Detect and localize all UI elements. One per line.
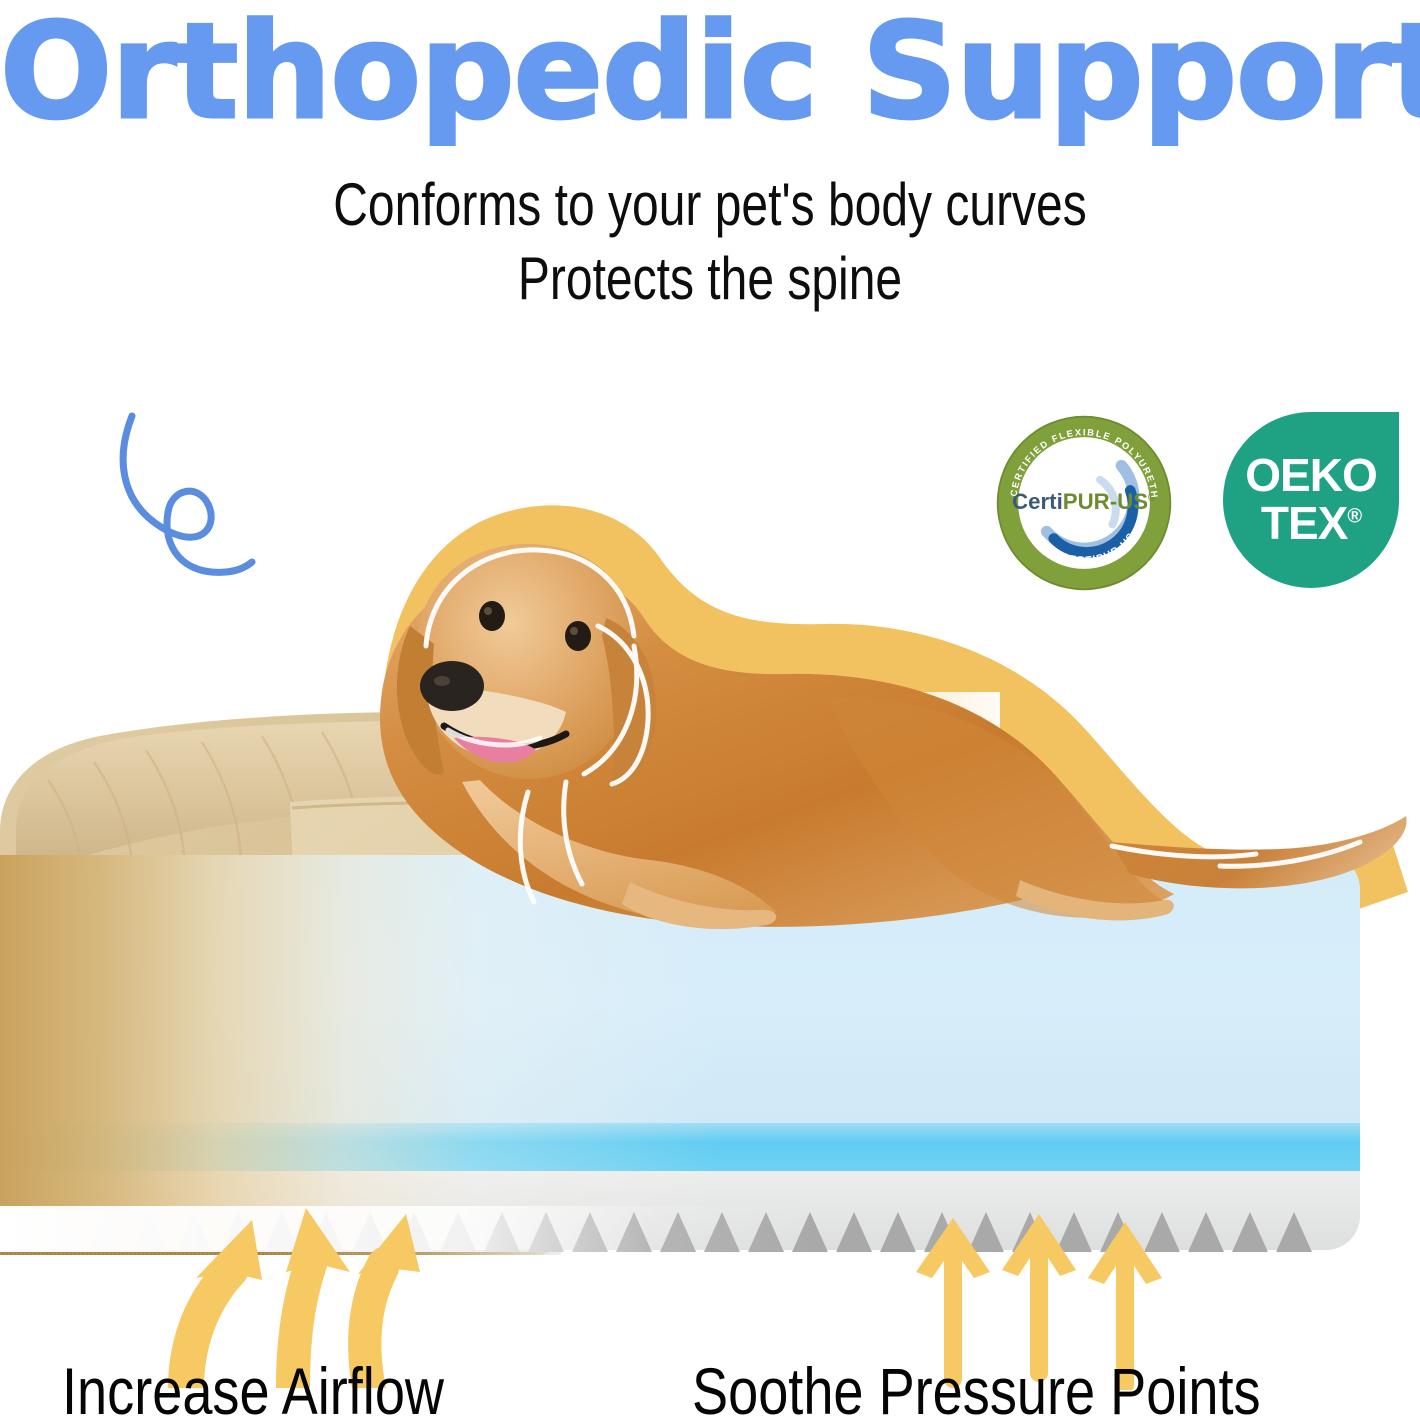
callout-labels: Increase Airflow Soothe Pressure Points [0, 1357, 1420, 1426]
page-title: Orthopedic Support [0, 0, 1420, 149]
product-photo-scene [0, 400, 1420, 1290]
callout-label-soothe-pressure-points: Soothe Pressure Points [692, 1357, 1261, 1426]
subtitle-line-2: Protects the spine [142, 242, 1278, 316]
subtitle-block: Conforms to your pet's body curves Prote… [142, 168, 1278, 317]
callout-label-increase-airflow: Increase Airflow [62, 1357, 444, 1426]
subtitle-line-1: Conforms to your pet's body curves [142, 168, 1278, 242]
golden-retriever-dog [230, 450, 1410, 1070]
